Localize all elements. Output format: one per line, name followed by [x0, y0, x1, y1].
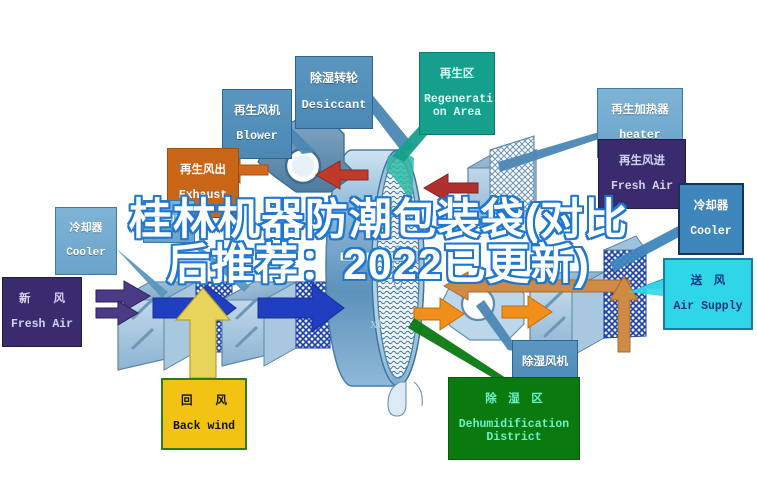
- label-regeneration-area[interactable]: 再生区 Regenerati on Area: [419, 52, 495, 135]
- label-cooler-right[interactable]: 冷却器 Cooler: [678, 183, 744, 255]
- label-dehumidification-district-cn: 除 湿 区: [453, 393, 575, 406]
- label-regen-blower-en: Blower: [227, 131, 287, 144]
- label-dehumidification-district[interactable]: 除 湿 区 Dehumidification District: [448, 377, 580, 460]
- label-cooler-right-cn: 冷却器: [684, 200, 738, 213]
- label-back-wind-cn: 回 风: [167, 395, 241, 408]
- label-fresh-air-cn: 新 风: [7, 293, 77, 306]
- label-fresh-air-en: Fresh Air: [7, 319, 77, 332]
- label-back-wind[interactable]: 回 风 Back wind: [161, 378, 247, 450]
- label-regen-fresh-air-cn: 再生风进: [603, 155, 681, 168]
- label-cooler-left[interactable]: 冷却器 Cooler: [55, 207, 117, 275]
- label-regeneration-area-cn: 再生区: [424, 68, 490, 81]
- label-dehumid-blower-cn: 除湿风机: [517, 356, 573, 369]
- regeneration-heater-coil: [468, 136, 536, 228]
- label-regen-heater-cn: 再生加热器: [602, 104, 678, 117]
- label-cooler-mid-cn: 冷却器: [148, 215, 190, 227]
- label-regen-fresh-air[interactable]: 再生风进 Fresh Air: [598, 139, 686, 209]
- label-cooler-left-en: Cooler: [60, 247, 112, 259]
- label-exhaust-cn: 再生风出: [172, 164, 234, 177]
- label-regeneration-area-en: Regenerati on Area: [424, 94, 490, 120]
- label-back-wind-en: Back wind: [167, 421, 241, 434]
- label-desiccant-rotor-en: Desiccant: [300, 99, 368, 112]
- label-dehumidification-district-en: Dehumidification District: [453, 419, 575, 445]
- label-desiccant-rotor-cn: 除湿转轮: [300, 72, 368, 85]
- label-air-supply-cn: 送 风: [669, 275, 747, 288]
- label-cooler-mid[interactable]: 冷却器: [143, 200, 195, 243]
- label-cooler-right-en: Cooler: [684, 226, 738, 239]
- label-air-supply-en: Air Supply: [669, 301, 747, 314]
- label-regen-fresh-air-en: Fresh Air: [603, 181, 681, 194]
- label-air-supply[interactable]: 送 风 Air Supply: [663, 258, 753, 330]
- svg-text:xt: xt: [370, 316, 383, 332]
- label-fresh-air[interactable]: 新 风 Fresh Air: [2, 277, 82, 347]
- label-regen-blower-cn: 再生风机: [227, 105, 287, 118]
- diagram-canvas: xt: [0, 0, 757, 488]
- label-desiccant-rotor[interactable]: 除湿转轮 Desiccant: [295, 56, 373, 129]
- label-cooler-left-cn: 冷却器: [60, 222, 112, 234]
